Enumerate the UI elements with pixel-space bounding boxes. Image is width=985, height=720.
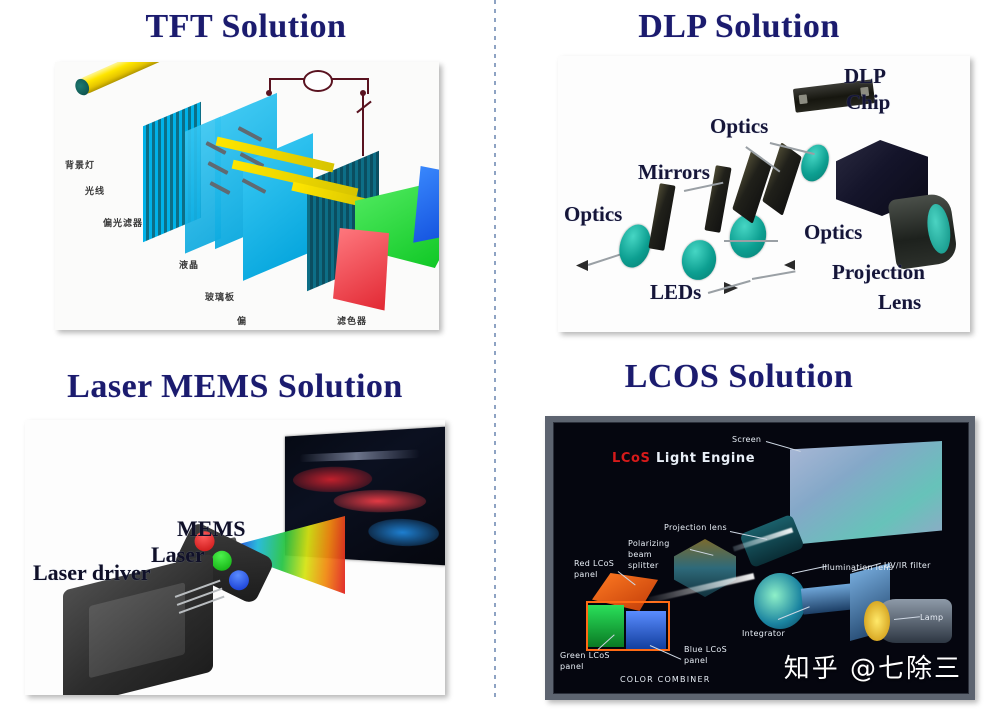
color-combiner-cube-icon	[586, 573, 670, 647]
red-output-icon	[333, 228, 389, 314]
label-optics-right: Optics	[804, 220, 862, 245]
optics-lens-icon	[679, 237, 719, 282]
backlight-lamp-icon	[76, 62, 193, 96]
label-pbs-line1: Polarizing	[628, 539, 670, 548]
illumination-lens-icon	[754, 573, 806, 629]
label-backlight: 背景灯	[65, 158, 95, 171]
label-green-panel-line2: panel	[560, 662, 584, 671]
label-color-filter: 滤色器	[337, 314, 367, 327]
label-liquid-crystal: 液晶	[179, 258, 199, 271]
projection-lens-icon	[887, 192, 958, 270]
leader-line	[752, 270, 796, 279]
label-screen: Screen	[732, 435, 761, 444]
label-red-panel-line1: Red LCoS	[574, 559, 614, 568]
circuit-node	[266, 90, 272, 96]
label-engine-brand: LCoS	[612, 451, 651, 466]
circuit-switch-icon	[356, 101, 371, 114]
label-integrator: Integrator	[742, 629, 785, 638]
label-color-combiner: COLOR COMBINER	[620, 675, 710, 684]
screen-icon	[790, 441, 942, 545]
source-cone-icon	[576, 260, 588, 271]
diagram-canvas: TFT Solution	[0, 0, 985, 720]
label-optics-left: Optics	[564, 202, 622, 227]
label-pbs-line3: splitter	[628, 561, 659, 570]
label-projection-line1: Projection	[832, 260, 925, 285]
label-blue-panel-line1: Blue LCoS	[684, 645, 727, 654]
label-optics-top: Optics	[710, 114, 768, 139]
label-dlp-chip-line2: Chip	[846, 90, 890, 115]
panel-title-mems: Laser MEMS Solution	[0, 368, 470, 406]
label-dlp-chip-line1: DLP	[844, 64, 886, 89]
label-green-panel-line1: Green LCoS	[560, 651, 610, 660]
mirror-icon	[648, 183, 675, 251]
label-red-panel-line2: panel	[574, 570, 598, 579]
label-laser: Laser	[151, 542, 205, 568]
panel-title-lcos: LCOS Solution	[493, 358, 985, 396]
label-light-rays: 光线	[85, 184, 105, 197]
label-polarizer: 偏	[237, 314, 247, 327]
led-cone-icon	[784, 260, 795, 270]
label-illumination-lens: Illumination lens	[822, 563, 893, 572]
label-mems: MEMS	[177, 516, 245, 542]
label-projection-lens: Projection lens	[664, 523, 727, 532]
label-pbs-line2: beam	[628, 550, 652, 559]
leader-line	[724, 240, 778, 242]
label-engine-name: Light Engine	[656, 451, 755, 466]
lcos-light-engine-diagram: LCoS Light Engine Screen Projection lens…	[553, 422, 969, 694]
label-laser-driver: Laser driver	[33, 560, 151, 586]
watermark-text: 知乎 @七除三	[784, 648, 962, 685]
label-uv-ir-filter: UV/IR filter	[884, 561, 931, 570]
mirror-icon	[762, 142, 802, 216]
label-polarizing-filter: 偏光滤器	[103, 216, 143, 229]
voltage-meter-icon	[303, 70, 333, 92]
panel-image-tft: 背景灯 光线 偏光滤器 液晶 玻璃板 偏 滤色器	[55, 62, 439, 330]
label-glass-plate: 玻璃板	[205, 290, 235, 303]
label-mirrors: Mirrors	[638, 160, 710, 185]
leader-line	[588, 254, 621, 266]
leader-line	[766, 441, 801, 452]
label-leds: LEDs	[650, 280, 701, 305]
optics-lens-icon	[796, 141, 833, 186]
panel-title-dlp: DLP Solution	[493, 8, 985, 46]
panel-image-lcos: LCoS Light Engine Screen Projection lens…	[545, 416, 975, 700]
vertical-dotted-divider	[494, 0, 496, 700]
panel-image-dlp: DLP Chip Optics Mirrors Optics Optics LE…	[558, 56, 970, 332]
panel-image-mems: Laser driver Laser MEMS	[25, 420, 445, 695]
label-blue-panel-line2: panel	[684, 656, 708, 665]
panel-title-tft: TFT Solution	[0, 8, 492, 46]
circuit-wire	[362, 94, 364, 156]
label-lamp: Lamp	[920, 613, 943, 622]
label-projection-line2: Lens	[878, 290, 921, 315]
